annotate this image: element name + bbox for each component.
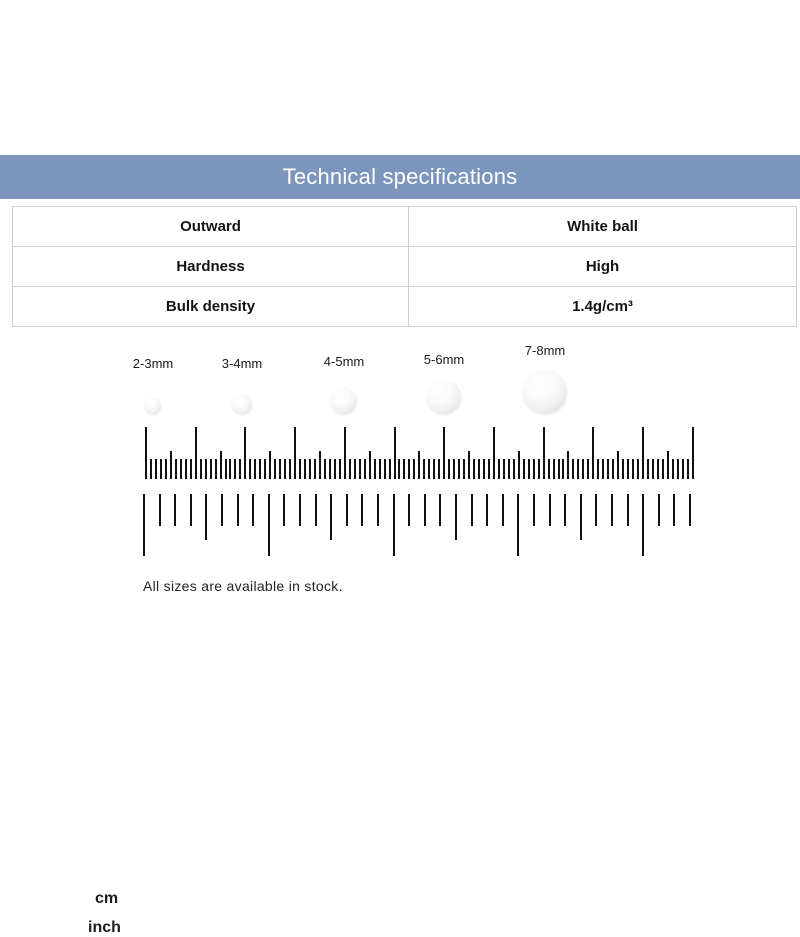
- ruler-tick-inch: [393, 494, 395, 556]
- ball-sphere-icon: [232, 394, 252, 414]
- ruler-tick-mm: [279, 459, 281, 479]
- ruler-tick-mm: [160, 459, 162, 479]
- ruler-tick-mm: [602, 459, 604, 479]
- ruler-tick-cm: [493, 427, 495, 479]
- ruler-tick-cm: [344, 427, 346, 479]
- spec-property-cell: Outward: [13, 207, 409, 247]
- ruler-tick-half-inch: [455, 494, 457, 540]
- ruler-tick-mm: [458, 459, 460, 479]
- ruler-tick-mm: [284, 459, 286, 479]
- ruler-tick-mm: [553, 459, 555, 479]
- ruler-tick-half-cm: [468, 451, 470, 479]
- ruler-tick-mm: [314, 459, 316, 479]
- ruler-tick-eighth-inch: [627, 494, 629, 526]
- ruler-tick-cm: [543, 427, 545, 479]
- ruler-tick-eighth-inch: [439, 494, 441, 526]
- ball-size-label: 3-4mm: [222, 356, 262, 371]
- table-row: HardnessHigh: [13, 247, 797, 287]
- ruler-tick-mm: [304, 459, 306, 479]
- ruler-tick-eighth-inch: [174, 494, 176, 526]
- ruler-tick-mm: [423, 459, 425, 479]
- ruler-tick-mm: [647, 459, 649, 479]
- ruler-tick-mm: [180, 459, 182, 479]
- ruler-tick-half-cm: [220, 451, 222, 479]
- ruler-tick-eighth-inch: [502, 494, 504, 526]
- ruler-tick-inch: [268, 494, 270, 556]
- ruler-tick-eighth-inch: [361, 494, 363, 526]
- stock-availability-caption: All sizes are available in stock.: [143, 578, 343, 594]
- ruler-tick-eighth-inch: [346, 494, 348, 526]
- ruler-tick-mm: [433, 459, 435, 479]
- ruler-tick-mm: [165, 459, 167, 479]
- ruler-tick-half-cm: [617, 451, 619, 479]
- ruler-tick-mm: [398, 459, 400, 479]
- ruler-tick-mm: [428, 459, 430, 479]
- ruler-tick-eighth-inch: [315, 494, 317, 526]
- ruler-tick-mm: [523, 459, 525, 479]
- ruler-tick-mm: [155, 459, 157, 479]
- ruler-tick-mm: [562, 459, 564, 479]
- cm-scale: [0, 424, 800, 486]
- ruler-tick-half-cm: [170, 451, 172, 479]
- ruler-tick-mm: [533, 459, 535, 479]
- ruler-tick-eighth-inch: [689, 494, 691, 526]
- ruler-tick-mm: [682, 459, 684, 479]
- ruler-graphic: cm inch: [0, 424, 800, 564]
- ruler-tick-mm: [175, 459, 177, 479]
- ruler-tick-mm: [299, 459, 301, 479]
- ruler-tick-eighth-inch: [673, 494, 675, 526]
- ruler-tick-eighth-inch: [283, 494, 285, 526]
- ball-size-label: 4-5mm: [324, 354, 364, 369]
- ruler-tick-eighth-inch: [486, 494, 488, 526]
- ruler-tick-mm: [677, 459, 679, 479]
- spec-value-cell: 1.4g/cm³: [409, 287, 797, 327]
- ball-sphere-icon: [427, 380, 461, 414]
- ruler-tick-mm: [413, 459, 415, 479]
- ruler-tick-mm: [229, 459, 231, 479]
- specifications-table: OutwardWhite ballHardnessHighBulk densit…: [12, 206, 797, 327]
- ruler-tick-mm: [488, 459, 490, 479]
- ruler-tick-eighth-inch: [471, 494, 473, 526]
- ruler-tick-mm: [538, 459, 540, 479]
- ruler-tick-mm: [528, 459, 530, 479]
- ruler-tick-half-cm: [418, 451, 420, 479]
- ruler-tick-inch: [642, 494, 644, 556]
- spec-property-cell: Bulk density: [13, 287, 409, 327]
- ruler-tick-mm: [264, 459, 266, 479]
- ruler-tick-inch: [143, 494, 145, 556]
- ruler-tick-mm: [627, 459, 629, 479]
- ruler-tick-eighth-inch: [237, 494, 239, 526]
- ruler-tick-mm: [254, 459, 256, 479]
- ruler-tick-half-cm: [369, 451, 371, 479]
- ruler-tick-half-inch: [205, 494, 207, 540]
- ball-sphere-icon: [145, 398, 161, 414]
- ruler-tick-mm: [200, 459, 202, 479]
- ruler-tick-cm: [145, 427, 147, 479]
- ruler-tick-half-cm: [667, 451, 669, 479]
- ruler-tick-mm: [478, 459, 480, 479]
- ruler-tick-mm: [384, 459, 386, 479]
- ruler-tick-mm: [364, 459, 366, 479]
- ruler-tick-mm: [652, 459, 654, 479]
- ruler-tick-mm: [274, 459, 276, 479]
- ruler-tick-mm: [558, 459, 560, 479]
- ruler-tick-mm: [513, 459, 515, 479]
- ruler-tick-mm: [498, 459, 500, 479]
- ruler-tick-mm: [259, 459, 261, 479]
- ruler-tick-eighth-inch: [564, 494, 566, 526]
- ruler-tick-mm: [607, 459, 609, 479]
- ruler-tick-eighth-inch: [408, 494, 410, 526]
- ruler-tick-half-inch: [330, 494, 332, 540]
- ball-size-comparison: 2-3mm3-4mm4-5mm5-6mm7-8mm: [0, 340, 800, 430]
- spec-value-cell: White ball: [409, 207, 797, 247]
- ruler-tick-mm: [672, 459, 674, 479]
- ruler-tick-mm: [582, 459, 584, 479]
- ruler-tick-mm: [687, 459, 689, 479]
- ruler-tick-mm: [572, 459, 574, 479]
- ruler-tick-mm: [463, 459, 465, 479]
- ruler-tick-mm: [403, 459, 405, 479]
- ruler-tick-mm: [349, 459, 351, 479]
- ruler-tick-mm: [622, 459, 624, 479]
- ruler-tick-mm: [249, 459, 251, 479]
- ruler-tick-mm: [329, 459, 331, 479]
- ruler-tick-mm: [453, 459, 455, 479]
- ruler-tick-mm: [657, 459, 659, 479]
- page-title: Technical specifications: [283, 164, 518, 190]
- ruler-tick-mm: [577, 459, 579, 479]
- ball-sphere-icon: [523, 370, 567, 414]
- ruler-tick-cm: [244, 427, 246, 479]
- ruler-tick-mm: [339, 459, 341, 479]
- ruler-tick-mm: [374, 459, 376, 479]
- ruler-tick-mm: [289, 459, 291, 479]
- ruler-tick-eighth-inch: [658, 494, 660, 526]
- ruler-tick-mm: [632, 459, 634, 479]
- cm-unit-label: cm: [95, 890, 118, 908]
- ruler-tick-cm: [443, 427, 445, 479]
- ruler-tick-eighth-inch: [299, 494, 301, 526]
- ruler-tick-mm: [587, 459, 589, 479]
- ruler-tick-mm: [359, 459, 361, 479]
- spec-property-cell: Hardness: [13, 247, 409, 287]
- table-row: Bulk density1.4g/cm³: [13, 287, 797, 327]
- ruler-tick-mm: [309, 459, 311, 479]
- inch-scale: [0, 490, 800, 560]
- ruler-tick-cm: [294, 427, 296, 479]
- ruler-tick-mm: [408, 459, 410, 479]
- ruler-tick-mm: [239, 459, 241, 479]
- ruler-tick-mm: [215, 459, 217, 479]
- ruler-tick-mm: [379, 459, 381, 479]
- ruler-tick-mm: [508, 459, 510, 479]
- ruler-tick-eighth-inch: [595, 494, 597, 526]
- ruler-tick-mm: [473, 459, 475, 479]
- ball-size-label: 7-8mm: [525, 343, 565, 358]
- ruler-tick-mm: [662, 459, 664, 479]
- ruler-tick-eighth-inch: [549, 494, 551, 526]
- ruler-tick-cm: [692, 427, 694, 479]
- ruler-tick-half-cm: [269, 451, 271, 479]
- ruler-tick-mm: [205, 459, 207, 479]
- ruler-tick-eighth-inch: [424, 494, 426, 526]
- ruler-tick-mm: [324, 459, 326, 479]
- ruler-tick-mm: [597, 459, 599, 479]
- ruler-tick-half-cm: [567, 451, 569, 479]
- ruler-tick-mm: [612, 459, 614, 479]
- ruler-tick-eighth-inch: [221, 494, 223, 526]
- ruler-tick-half-cm: [319, 451, 321, 479]
- ruler-tick-mm: [225, 459, 227, 479]
- ruler-tick-cm: [592, 427, 594, 479]
- table-row: OutwardWhite ball: [13, 207, 797, 247]
- ruler-tick-inch: [517, 494, 519, 556]
- ruler-tick-mm: [483, 459, 485, 479]
- ball-size-label: 5-6mm: [424, 352, 464, 367]
- ball-size-label: 2-3mm: [133, 356, 173, 371]
- ruler-tick-eighth-inch: [190, 494, 192, 526]
- ruler-tick-mm: [637, 459, 639, 479]
- spec-value-cell: High: [409, 247, 797, 287]
- ruler-tick-mm: [438, 459, 440, 479]
- ruler-tick-mm: [334, 459, 336, 479]
- ruler-tick-eighth-inch: [252, 494, 254, 526]
- ruler-tick-mm: [548, 459, 550, 479]
- ruler-tick-mm: [210, 459, 212, 479]
- ruler-tick-eighth-inch: [159, 494, 161, 526]
- ruler-tick-mm: [354, 459, 356, 479]
- ruler-tick-half-cm: [518, 451, 520, 479]
- ruler-tick-eighth-inch: [533, 494, 535, 526]
- technical-specifications-banner: Technical specifications: [0, 155, 800, 199]
- ruler-tick-mm: [185, 459, 187, 479]
- ruler-tick-mm: [234, 459, 236, 479]
- ruler-tick-cm: [642, 427, 644, 479]
- ruler-tick-cm: [394, 427, 396, 479]
- ruler-tick-mm: [448, 459, 450, 479]
- ruler-tick-eighth-inch: [377, 494, 379, 526]
- ruler-tick-mm: [389, 459, 391, 479]
- ruler-tick-half-inch: [580, 494, 582, 540]
- ruler-tick-cm: [195, 427, 197, 479]
- ruler-tick-mm: [150, 459, 152, 479]
- ruler-tick-mm: [503, 459, 505, 479]
- ball-sphere-icon: [331, 388, 357, 414]
- ruler-tick-eighth-inch: [611, 494, 613, 526]
- inch-unit-label: inch: [88, 919, 121, 937]
- ruler-tick-mm: [190, 459, 192, 479]
